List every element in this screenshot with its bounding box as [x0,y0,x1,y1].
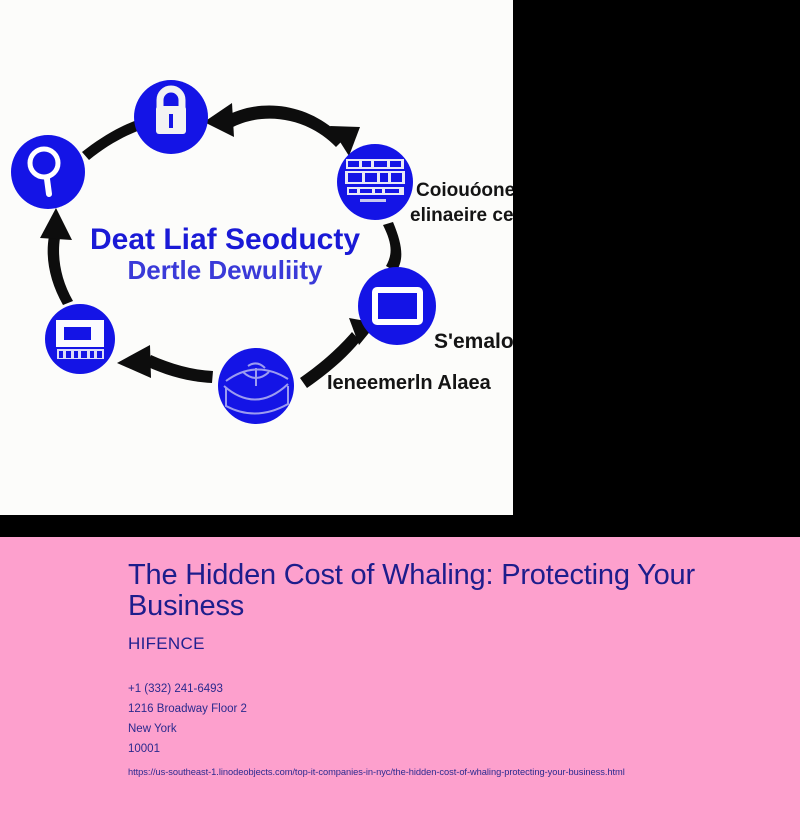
security-lifecycle-diagram: Deat Liaf Seoducty Dertle Dewuliity Coio… [0,0,513,515]
node-magnifier-circle [11,135,85,209]
diagram-side-label-4: Ieneemerln Alaea [327,372,492,394]
node-network[interactable] [218,348,294,424]
brand-name: HIFENCE [128,634,768,654]
diagram-center-title-line2: Dertle Dewuliity [127,255,323,285]
page-title: The Hidden Cost of Whaling: Protecting Y… [128,560,718,622]
diagram-side-label-1: Coiouóone [416,180,513,201]
hero-region: Deat Liaf Seoducty Dertle Dewuliity Coio… [0,0,800,537]
node-monitor[interactable] [45,304,115,374]
node-padlock[interactable] [134,80,208,154]
diagram-side-label-2: elinaeire ce [410,205,513,226]
contact-block: +1 (332) 241-6493 1216 Broadway Floor 2 … [128,679,768,759]
node-magnifier[interactable] [11,135,85,209]
contact-city: New York [128,719,768,739]
contact-address-line1: 1216 Broadway Floor 2 [128,699,768,719]
source-url[interactable]: https://us-southeast-1.linodeobjects.com… [128,767,768,777]
node-window-circle [358,267,436,345]
contact-phone: +1 (332) 241-6493 [128,679,768,699]
contact-zip: 10001 [128,739,768,759]
node-window[interactable] [358,267,436,345]
diagram-center-title-line1: Deat Liaf Seoducty [90,223,360,256]
diagram-side-label-3: S'emalo [434,330,513,353]
diagram-canvas: Deat Liaf Seoducty Dertle Dewuliity Coio… [0,0,513,515]
info-panel: The Hidden Cost of Whaling: Protecting Y… [0,537,800,840]
node-document[interactable] [337,144,413,220]
info-content: The Hidden Cost of Whaling: Protecting Y… [128,560,768,777]
monitor-icon [56,320,104,359]
